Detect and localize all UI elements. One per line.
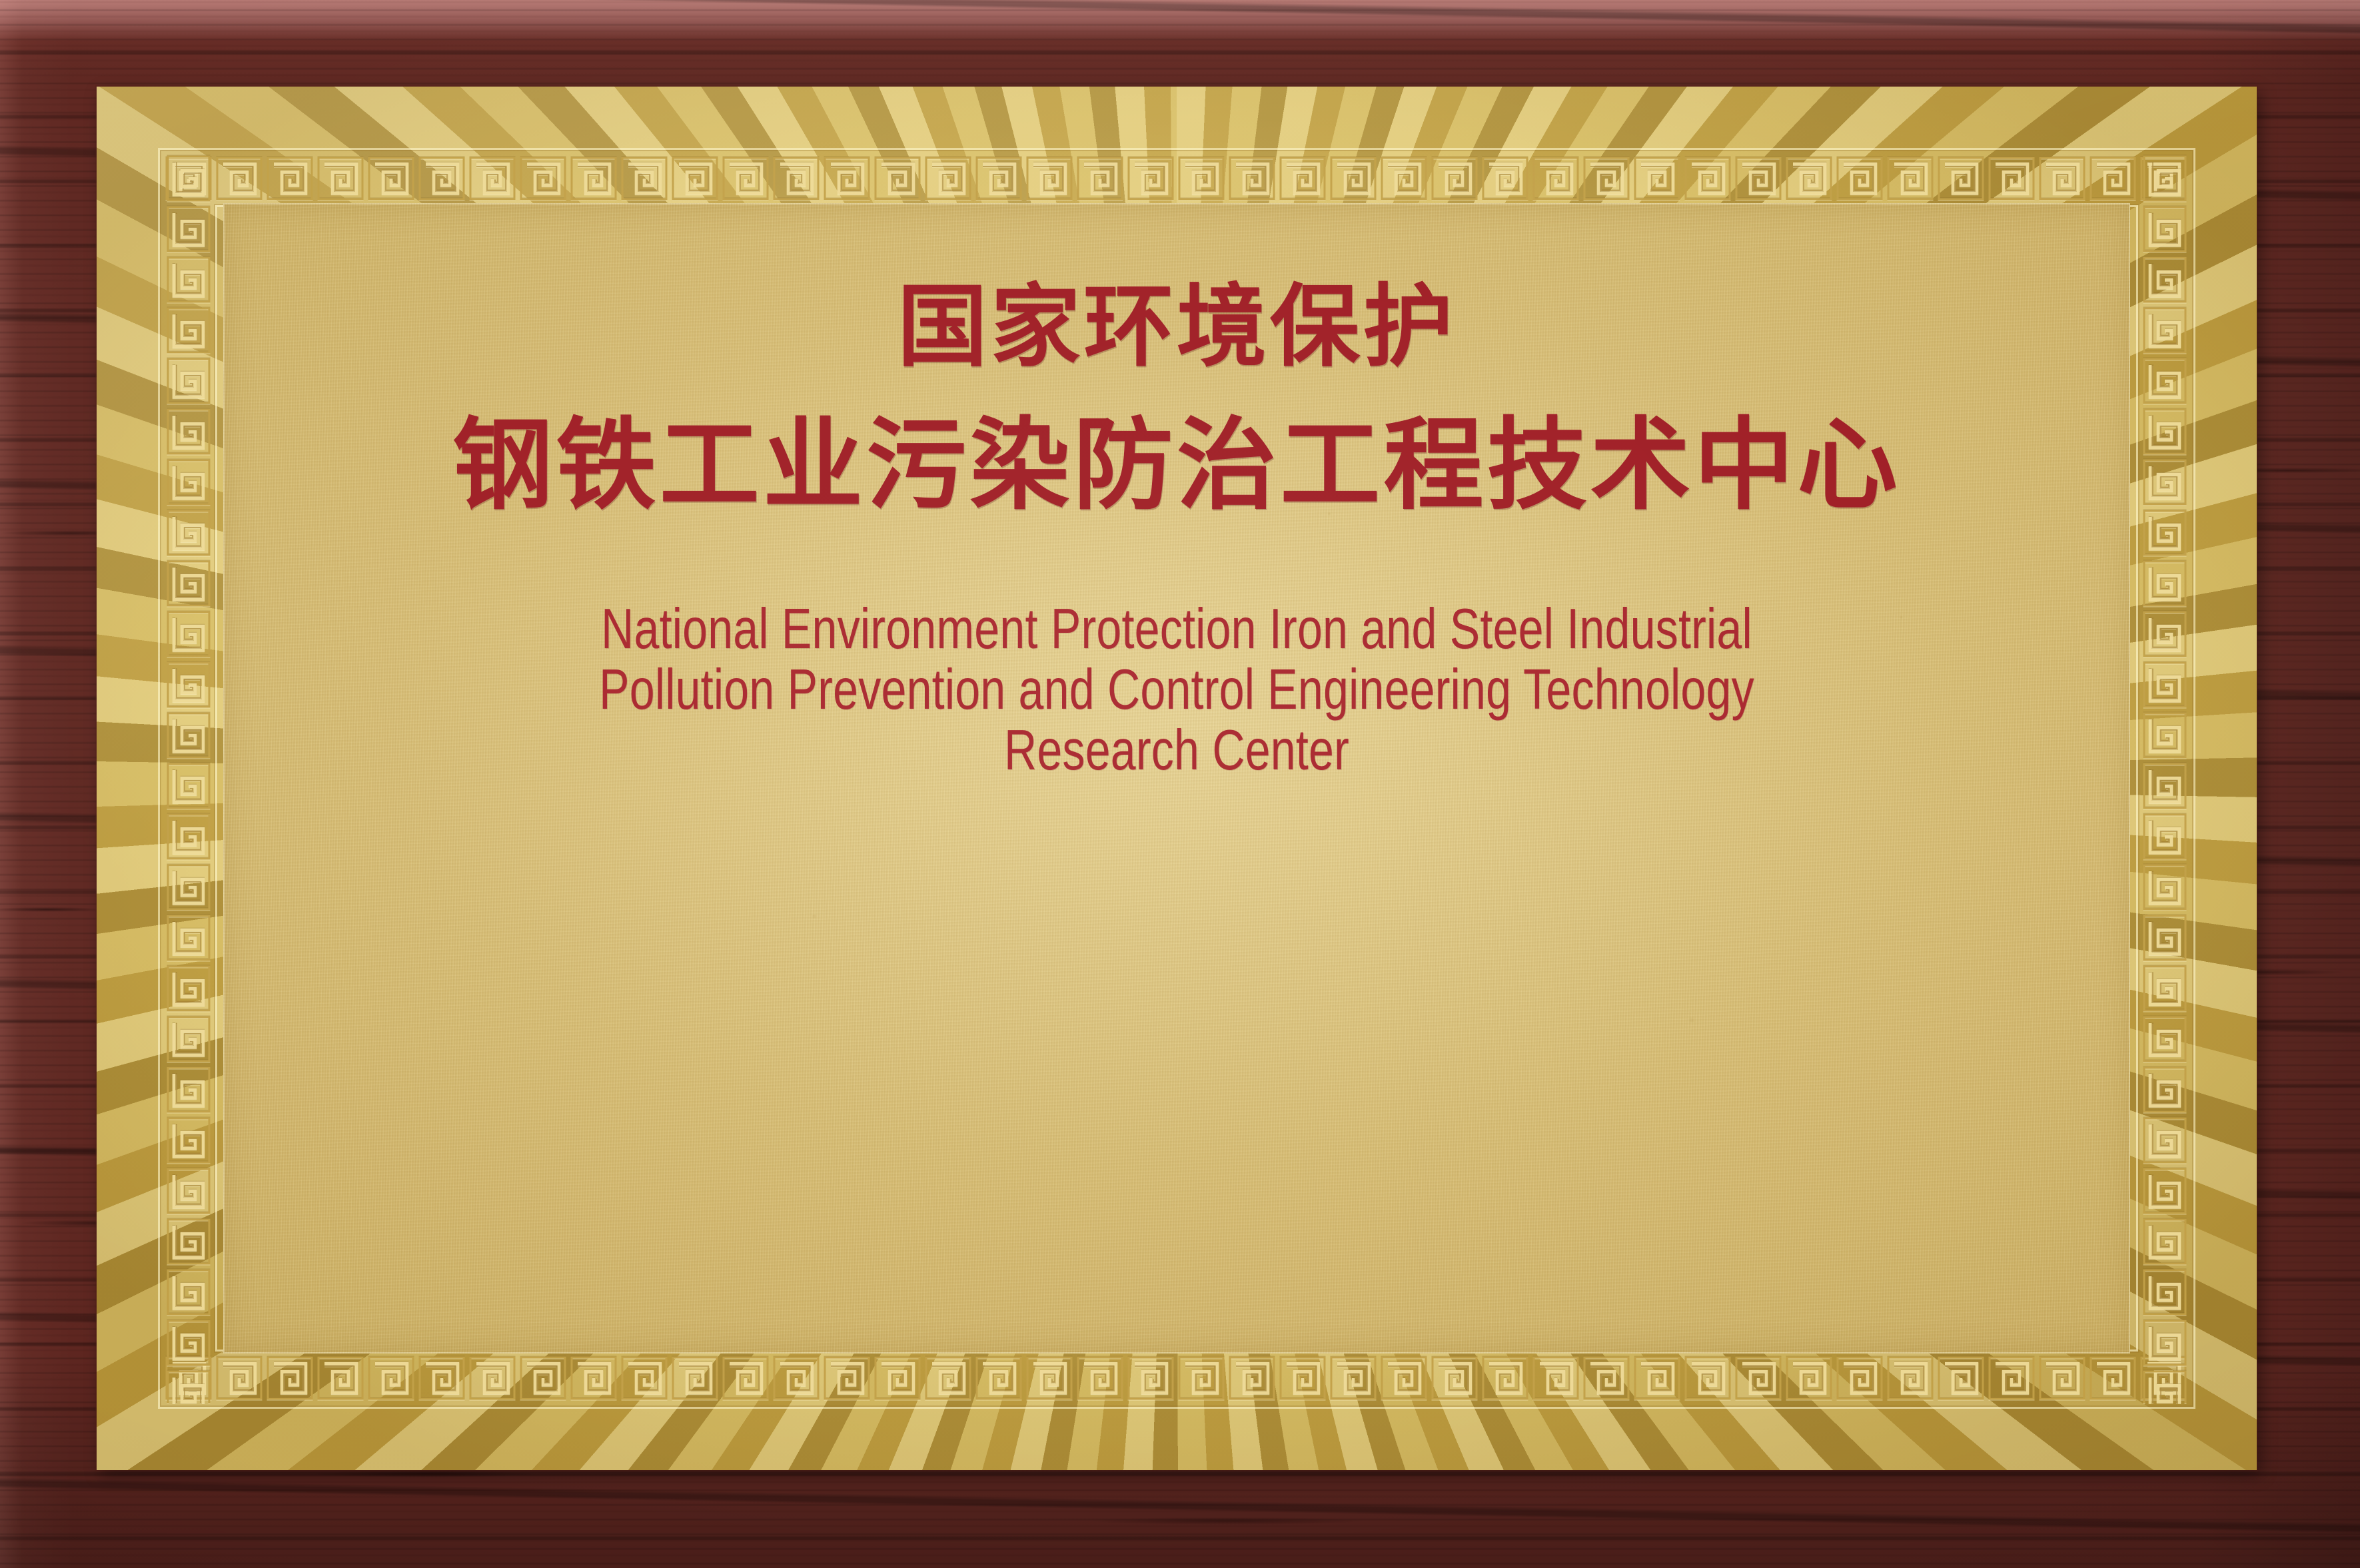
english-title-line-2: Pollution Prevention and Control Enginee… [297,660,2056,721]
inscription-text: 国家环境保护 钢铁工业污染防治工程技术中心 National Environme… [223,203,2130,1354]
chinese-title-line-2: 钢铁工业污染防治工程技术中心 [452,416,1901,516]
award-plaque: 国家环境保护 钢铁工业污染防治工程技术中心 National Environme… [0,0,2360,1568]
english-title-block: National Environment Protection Iron and… [297,599,2056,781]
chinese-title-line-1: 国家环境保护 [897,282,1456,372]
gold-plate: 国家环境保护 钢铁工业污染防治工程技术中心 National Environme… [97,87,2257,1470]
meander-band-top [163,153,2190,204]
english-title-line-3: Research Center [297,721,2056,781]
meander-band-left [163,153,214,1403]
meander-band-right [2139,153,2190,1403]
english-title-line-1: National Environment Protection Iron and… [297,599,2056,660]
meander-band-bottom [163,1353,2190,1403]
inscription-panel: 国家环境保护 钢铁工业污染防治工程技术中心 National Environme… [223,203,2130,1354]
